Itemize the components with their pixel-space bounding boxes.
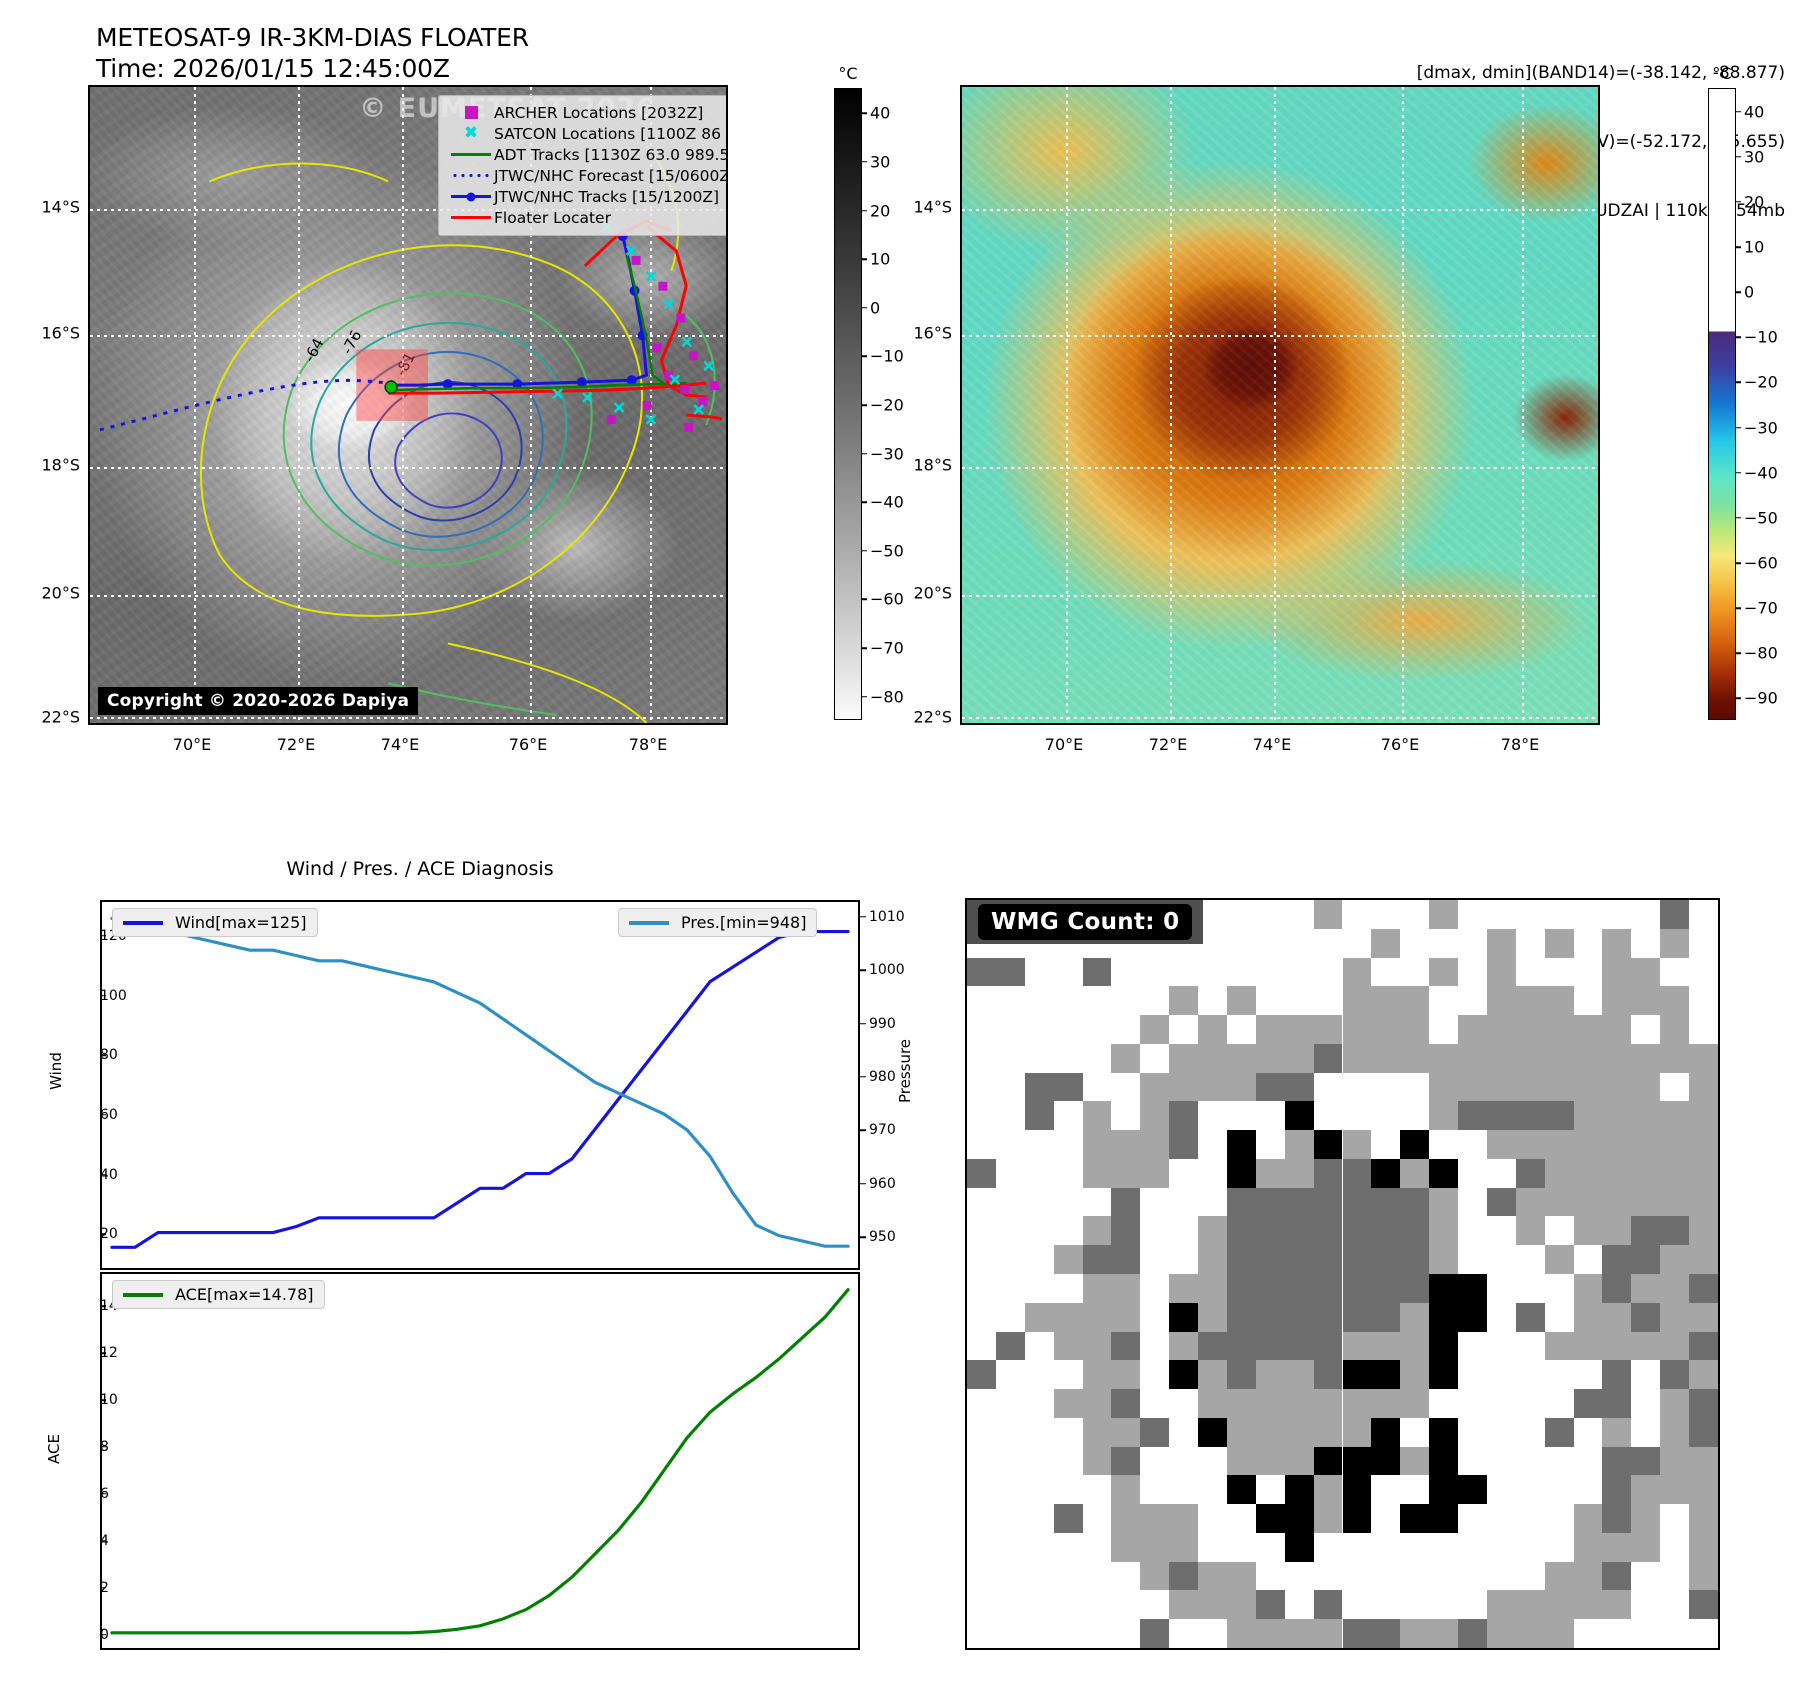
legend-item-jtwc-forecast[interactable]: JTWC/NHC Forecast [15/0600Z] — [448, 165, 728, 186]
cb-ir-tick-label-2: 20 — [870, 201, 890, 220]
wmg-cell — [1025, 1389, 1054, 1418]
wmg-cell — [1227, 1504, 1256, 1533]
wmg-cell — [1285, 1044, 1314, 1073]
wmg-cell — [1140, 1073, 1169, 1102]
wmg-cell — [1025, 1044, 1054, 1073]
wmg-cell — [1140, 986, 1169, 1015]
wmg-cell — [1516, 1504, 1545, 1533]
wmg-cell — [1574, 1159, 1603, 1188]
wmg-cell — [1256, 1533, 1285, 1562]
wmg-cell — [1314, 986, 1343, 1015]
wmg-cell — [1689, 1590, 1718, 1619]
wmg-cell — [1574, 1130, 1603, 1159]
ir-lon-tick-2: 74°E — [381, 735, 419, 754]
wmg-cell — [1429, 1475, 1458, 1504]
wmg-cell — [1631, 1418, 1660, 1447]
wmg-cell — [1689, 1101, 1718, 1130]
wmg-cell — [1660, 1533, 1689, 1562]
wmg-cell — [1545, 1332, 1574, 1361]
cb-awv-tick-mark-11 — [1735, 607, 1741, 609]
wmg-cell — [1083, 1303, 1112, 1332]
wmg-cell — [1169, 1447, 1198, 1476]
wmg-cell — [1574, 1101, 1603, 1130]
legend-item-floater-locater[interactable]: Floater Locater — [448, 207, 728, 228]
wmg-cell — [1631, 1360, 1660, 1389]
wmg-cell — [1545, 1015, 1574, 1044]
wmg-cell — [1256, 1303, 1285, 1332]
wind-legend[interactable]: Wind[max=125] — [112, 908, 318, 937]
wmg-cell — [1660, 929, 1689, 958]
awv-lat-tick-1: 16°S — [913, 324, 952, 343]
wmg-cell — [996, 1188, 1025, 1217]
wmg-cell — [1227, 1245, 1256, 1274]
wmg-cell — [1429, 1533, 1458, 1562]
wmg-cell — [1140, 1130, 1169, 1159]
wmg-cell — [1371, 1332, 1400, 1361]
wmg-cell — [1371, 1303, 1400, 1332]
wmg-cell — [1516, 1245, 1545, 1274]
wmg-cell — [1487, 1533, 1516, 1562]
wmg-cell — [1458, 900, 1487, 929]
wmg-cell — [1227, 1303, 1256, 1332]
wmg-cell — [1025, 958, 1054, 987]
wmg-cell — [1169, 1590, 1198, 1619]
wmg-cell — [1256, 1590, 1285, 1619]
pressure-axis-label: Pressure — [896, 1011, 914, 1131]
wmg-cell — [1227, 900, 1256, 929]
wmg-cell — [1111, 1188, 1140, 1217]
wmg-cell — [1285, 958, 1314, 987]
wmg-cell — [1458, 1389, 1487, 1418]
wmg-cell — [1343, 1389, 1372, 1418]
cb-ir-tick-label-9: −50 — [870, 541, 904, 560]
wmg-cell — [1054, 1590, 1083, 1619]
wmg-cell — [967, 1130, 996, 1159]
wmg-cell — [1285, 1504, 1314, 1533]
wmg-cell — [1516, 1360, 1545, 1389]
ace-legend[interactable]: ACE[max=14.78] — [112, 1280, 325, 1309]
wmg-cell — [1660, 1332, 1689, 1361]
wmg-cell — [1198, 1447, 1227, 1476]
wp-ticks-y2-tick-mark-3 — [860, 1076, 866, 1078]
wmg-cell — [1314, 1303, 1343, 1332]
wmg-cell — [1140, 1475, 1169, 1504]
wmg-cell — [1400, 1188, 1429, 1217]
wmg-cell — [1689, 900, 1718, 929]
wmg-cell — [1285, 1418, 1314, 1447]
wmg-cell — [1400, 1619, 1429, 1648]
wmg-cell — [1285, 900, 1314, 929]
wmg-cell — [1256, 986, 1285, 1015]
wmg-cell — [1602, 1418, 1631, 1447]
wmg-cell — [996, 1360, 1025, 1389]
wmg-cell — [1371, 900, 1400, 929]
wmg-cell — [1054, 1360, 1083, 1389]
wmg-cell — [1198, 1245, 1227, 1274]
wmg-cell — [1083, 1130, 1112, 1159]
wmg-cell — [1458, 1619, 1487, 1648]
wmg-cell — [1516, 1216, 1545, 1245]
wmg-cell — [1574, 929, 1603, 958]
wmg-cell — [1025, 1590, 1054, 1619]
wmg-cell — [1400, 1044, 1429, 1073]
wmg-cell — [1689, 1332, 1718, 1361]
wmg-cell — [1227, 1015, 1256, 1044]
wmg-cell — [1429, 1590, 1458, 1619]
wmg-cell — [1689, 1533, 1718, 1562]
wmg-cell — [1198, 1130, 1227, 1159]
cb-awv-tick-label-8: −40 — [1744, 463, 1778, 482]
wmg-cell — [1574, 1303, 1603, 1332]
wmg-cell — [1371, 1533, 1400, 1562]
wmg-cell — [1660, 900, 1689, 929]
cb-awv-tick-mark-9 — [1735, 517, 1741, 519]
wmg-cell — [1371, 1216, 1400, 1245]
wmg-cell — [1602, 1389, 1631, 1418]
ir-lat-tick-2: 18°S — [41, 456, 80, 475]
wmg-cell — [1689, 1159, 1718, 1188]
wmg-cell — [1256, 1475, 1285, 1504]
wmg-cell — [1198, 1188, 1227, 1217]
wmg-cell — [1343, 1360, 1372, 1389]
wmg-cell — [1054, 1073, 1083, 1102]
wmg-cell — [967, 1188, 996, 1217]
wmg-cell — [1400, 1159, 1429, 1188]
ir-lon-tick-1: 72°E — [277, 735, 315, 754]
wmg-cell — [1314, 1418, 1343, 1447]
wmg-cell — [1429, 1044, 1458, 1073]
wmg-cell — [1574, 1447, 1603, 1476]
wmg-cell — [1285, 1159, 1314, 1188]
wmg-cell — [1343, 958, 1372, 987]
wmg-cell — [1054, 1216, 1083, 1245]
wmg-cell — [1660, 1619, 1689, 1648]
wmg-cell — [1602, 1245, 1631, 1274]
wmg-cell — [967, 1073, 996, 1102]
wmg-cell — [1487, 1504, 1516, 1533]
wmg-cell — [1660, 1475, 1689, 1504]
wmg-cell — [1256, 958, 1285, 987]
wmg-cell — [1025, 1216, 1054, 1245]
map-legend[interactable]: ARCHER Locations [2032Z] ✖ SATCON Locati… — [438, 95, 728, 236]
wmg-cell — [996, 986, 1025, 1015]
legend-item-jtwc-tracks[interactable]: JTWC/NHC Tracks [15/1200Z] — [448, 186, 728, 207]
wmg-cell — [1689, 1130, 1718, 1159]
wmg-cell — [1343, 1303, 1372, 1332]
wmg-cell — [1140, 1015, 1169, 1044]
blue-line-with-dot-icon — [448, 195, 494, 198]
wmg-cell — [1574, 1562, 1603, 1591]
wmg-cell — [1314, 1130, 1343, 1159]
wmg-cell — [1487, 1015, 1516, 1044]
wmg-cell — [1256, 1044, 1285, 1073]
wmg-cell — [1314, 1619, 1343, 1648]
wmg-cell — [1314, 958, 1343, 987]
wmg-cell — [1400, 1216, 1429, 1245]
ace-series-swatch-icon — [123, 1293, 163, 1297]
wmg-mosaic-panel[interactable]: WMG Count: 0 — [965, 898, 1720, 1650]
ace-plot-area — [102, 1274, 858, 1648]
wmg-cell — [1285, 1590, 1314, 1619]
wmg-count-badge: WMG Count: 0 — [978, 904, 1192, 940]
wmg-cell — [1516, 1533, 1545, 1562]
wmg-cell — [967, 1101, 996, 1130]
wmg-cell — [1285, 929, 1314, 958]
wmg-cell — [1169, 1130, 1198, 1159]
wmg-cell — [1660, 1044, 1689, 1073]
wmg-cell — [1140, 1504, 1169, 1533]
wmg-cell — [1371, 929, 1400, 958]
wmg-cell — [1140, 1590, 1169, 1619]
wmg-cell — [1140, 1447, 1169, 1476]
awv-texture-overlay — [962, 87, 1598, 723]
wmg-cell — [1602, 1332, 1631, 1361]
wmg-cell — [1227, 1475, 1256, 1504]
wmg-cell — [1400, 1360, 1429, 1389]
wmg-cell — [1660, 1389, 1689, 1418]
page-time: Time: 2026/01/15 12:45:00Z — [96, 53, 529, 84]
wmg-cell — [1631, 1619, 1660, 1648]
ir-lat-tick-4: 22°S — [41, 708, 80, 727]
wmg-cell — [1516, 1303, 1545, 1332]
wmg-cell — [1574, 1590, 1603, 1619]
wmg-cell — [1198, 1216, 1227, 1245]
cb-ir-tick-mark-9 — [861, 550, 867, 552]
wmg-cell — [1169, 1159, 1198, 1188]
wmg-cell — [1054, 1447, 1083, 1476]
wmg-cell — [996, 1418, 1025, 1447]
wmg-cell — [1371, 1504, 1400, 1533]
wmg-cell — [1574, 1015, 1603, 1044]
wmg-cell — [1314, 1188, 1343, 1217]
wmg-cell — [1140, 1188, 1169, 1217]
wmg-cell — [1285, 1130, 1314, 1159]
wmg-cell — [1227, 1360, 1256, 1389]
wmg-cell — [1545, 1274, 1574, 1303]
wmg-cell — [1025, 1245, 1054, 1274]
wmg-cell — [1054, 1619, 1083, 1648]
wmg-cell — [1689, 1389, 1718, 1418]
ace-chart[interactable] — [100, 1272, 860, 1650]
wmg-cell — [1227, 1159, 1256, 1188]
wmg-cell — [1487, 900, 1516, 929]
wmg-cell — [1227, 1130, 1256, 1159]
wmg-cell — [1285, 986, 1314, 1015]
wmg-cell — [1371, 1245, 1400, 1274]
cb-ir-tick-mark-2 — [861, 210, 867, 212]
wmg-cell — [1631, 1216, 1660, 1245]
wmg-cell — [1371, 1562, 1400, 1591]
wmg-cell — [1198, 1159, 1227, 1188]
wmg-cell — [1140, 1418, 1169, 1447]
wmg-cell — [967, 1303, 996, 1332]
wmg-cell — [1169, 1101, 1198, 1130]
wmg-cell — [1545, 1504, 1574, 1533]
wmg-cell — [1111, 1216, 1140, 1245]
wmg-cell — [1429, 1130, 1458, 1159]
wmg-cell — [1140, 1562, 1169, 1591]
wmg-cell — [1429, 1101, 1458, 1130]
awv-lon-tick-2: 74°E — [1253, 735, 1291, 754]
wmg-cell — [1487, 1590, 1516, 1619]
wmg-cell — [1256, 1159, 1285, 1188]
wmg-cell — [1025, 1303, 1054, 1332]
wmg-cell — [1545, 1073, 1574, 1102]
wmg-cell — [1487, 1101, 1516, 1130]
wmg-cell — [1314, 1389, 1343, 1418]
wind-pressure-chart[interactable] — [100, 900, 860, 1270]
wmg-cell — [1487, 1332, 1516, 1361]
wmg-cell — [1227, 1274, 1256, 1303]
wmg-cell — [1660, 1216, 1689, 1245]
wmg-cell — [996, 1101, 1025, 1130]
wmg-cell — [1631, 1562, 1660, 1591]
wmg-cell — [1458, 1044, 1487, 1073]
wmg-cell — [1111, 1274, 1140, 1303]
wmg-cell — [996, 1015, 1025, 1044]
wmg-cell — [1545, 1475, 1574, 1504]
wmg-cell — [1660, 1188, 1689, 1217]
wmg-cell — [1343, 1015, 1372, 1044]
wmg-cell — [1400, 1303, 1429, 1332]
awv-lon-tick-1: 72°E — [1149, 735, 1187, 754]
wmg-cell — [996, 1562, 1025, 1591]
wmg-cell — [1574, 1332, 1603, 1361]
wmg-cell — [1574, 1188, 1603, 1217]
cb-awv-tick-mark-10 — [1735, 562, 1741, 564]
wmg-cell — [1083, 958, 1112, 987]
wmg-cell — [1487, 929, 1516, 958]
wp-ticks-y2-tick-mark-5 — [860, 969, 866, 971]
wmg-cell — [1371, 1130, 1400, 1159]
wmg-cell — [1314, 1562, 1343, 1591]
wmg-cell — [967, 1504, 996, 1533]
wmg-cell — [1689, 1418, 1718, 1447]
wmg-cell — [1516, 1015, 1545, 1044]
wmg-cell — [1660, 986, 1689, 1015]
series-line-0 — [112, 1290, 848, 1633]
wmg-cell — [1227, 986, 1256, 1015]
wmg-cell — [1256, 1562, 1285, 1591]
wmg-cell — [1198, 1389, 1227, 1418]
wmg-cell — [1198, 1073, 1227, 1102]
cb-awv-tick-label-6: −20 — [1744, 373, 1778, 392]
wmg-cell — [1169, 1389, 1198, 1418]
wmg-cell — [1314, 1216, 1343, 1245]
cb-ir-tick-mark-7 — [861, 453, 867, 455]
awv-lon-tick-0: 70°E — [1045, 735, 1083, 754]
wmg-cell — [996, 1389, 1025, 1418]
wmg-cell — [1025, 1332, 1054, 1361]
wmg-cell — [1602, 1188, 1631, 1217]
wmg-cell — [1602, 1274, 1631, 1303]
wmg-cell — [967, 1044, 996, 1073]
legend-item-archer[interactable]: ARCHER Locations [2032Z] — [448, 102, 728, 123]
wind-pressure-plot-area — [102, 902, 858, 1268]
wmg-cell — [1083, 1188, 1112, 1217]
wmg-cell — [1602, 1216, 1631, 1245]
wmg-cell — [1429, 1073, 1458, 1102]
wmg-cell — [1429, 1562, 1458, 1591]
wmg-cell — [1631, 1101, 1660, 1130]
wmg-cell — [1227, 1216, 1256, 1245]
wmg-cell — [1083, 1418, 1112, 1447]
awv-lon-tick-3: 76°E — [1381, 735, 1419, 754]
wmg-cell — [1429, 1360, 1458, 1389]
wmg-cell — [1574, 1245, 1603, 1274]
wmg-cell — [1314, 1504, 1343, 1533]
wmg-cell — [1140, 1332, 1169, 1361]
wmg-cell — [1140, 1245, 1169, 1274]
legend-item-satcon[interactable]: ✖ SATCON Locations [1100Z 86 970] — [448, 123, 728, 144]
cb-ir-tick-mark-11 — [861, 647, 867, 649]
wmg-cell — [1054, 1130, 1083, 1159]
wmg-cell — [1111, 1130, 1140, 1159]
wmg-cell — [1256, 929, 1285, 958]
cb-awv-tick-mark-5 — [1735, 337, 1741, 339]
wmg-cell — [1343, 1188, 1372, 1217]
wmg-cell — [1400, 1590, 1429, 1619]
pressure-series-swatch-icon — [629, 921, 669, 925]
wmg-cell — [1111, 1303, 1140, 1332]
wmg-cell — [1314, 1101, 1343, 1130]
wmg-cell — [996, 1619, 1025, 1648]
wmg-cell — [1256, 1073, 1285, 1102]
cb-ir-tick-mark-12 — [861, 696, 867, 698]
wmg-cell — [1689, 986, 1718, 1015]
wmg-cell — [1660, 1303, 1689, 1332]
wmg-cell — [1227, 1447, 1256, 1476]
wmg-cell — [1660, 1447, 1689, 1476]
wmg-cell — [1371, 1274, 1400, 1303]
wmg-cell — [1545, 1216, 1574, 1245]
cb-awv-tick-label-5: −10 — [1744, 328, 1778, 347]
wmg-cell — [1111, 1590, 1140, 1619]
wmg-cell — [1545, 929, 1574, 958]
wmg-cell — [1371, 1389, 1400, 1418]
wmg-cell — [1343, 1216, 1372, 1245]
ir-floater-map[interactable]: -64 -76 -81 — [88, 85, 728, 725]
pressure-legend[interactable]: Pres.[min=948] — [618, 908, 817, 937]
ir-colorbar-title: °C — [838, 64, 857, 83]
awv-enhanced-map[interactable] — [960, 85, 1600, 725]
wmg-cell — [996, 1447, 1025, 1476]
wmg-cell — [1198, 958, 1227, 987]
wmg-cell — [1631, 1332, 1660, 1361]
wmg-cell — [1487, 1447, 1516, 1476]
wmg-cell — [1458, 1303, 1487, 1332]
wmg-cell — [1198, 1360, 1227, 1389]
awv-lon-tick-4: 78°E — [1501, 735, 1539, 754]
wmg-cell — [1343, 1447, 1372, 1476]
wmg-cell — [1602, 1619, 1631, 1648]
wmg-cell — [1545, 1130, 1574, 1159]
cb-ir-tick-mark-1 — [861, 161, 867, 163]
wmg-cell — [1429, 900, 1458, 929]
wmg-cell — [1429, 1619, 1458, 1648]
wmg-cell — [1285, 1303, 1314, 1332]
wmg-cell — [1689, 1015, 1718, 1044]
wmg-cell — [1400, 1389, 1429, 1418]
wmg-cell — [1227, 929, 1256, 958]
wmg-cell — [1256, 1101, 1285, 1130]
wmg-cell — [1631, 1533, 1660, 1562]
wmg-cell — [1111, 1015, 1140, 1044]
legend-item-adt[interactable]: ADT Tracks [1130Z 63.0 989.5] — [448, 144, 728, 165]
wmg-cell — [1198, 1562, 1227, 1591]
wmg-cell — [1574, 1389, 1603, 1418]
wmg-cell — [1660, 1418, 1689, 1447]
